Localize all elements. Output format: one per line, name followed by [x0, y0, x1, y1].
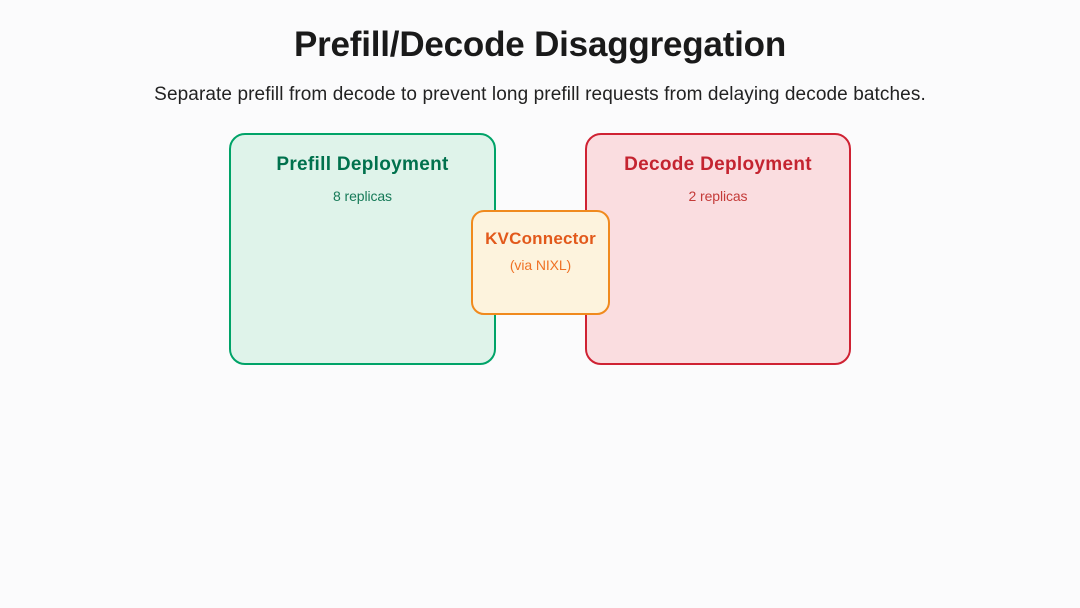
slide-canvas: Prefill/Decode Disaggregation Separate p… [0, 0, 1080, 608]
kv-connector-subtitle: (via NIXL) [473, 256, 608, 274]
page-subtitle: Separate prefill from decode to prevent … [0, 82, 1080, 108]
decode-replicas-label: 2 replicas [587, 187, 849, 205]
decode-deployment-box: Decode Deployment 2 replicas [585, 133, 851, 365]
decode-deployment-title: Decode Deployment [587, 153, 849, 177]
kv-connector-box: KVConnector (via NIXL) [471, 210, 610, 315]
prefill-replicas-label: 8 replicas [231, 187, 494, 205]
page-title: Prefill/Decode Disaggregation [0, 24, 1080, 66]
prefill-deployment-title: Prefill Deployment [231, 153, 494, 177]
kv-connector-title: KVConnector [473, 228, 608, 250]
prefill-deployment-box: Prefill Deployment 8 replicas [229, 133, 496, 365]
